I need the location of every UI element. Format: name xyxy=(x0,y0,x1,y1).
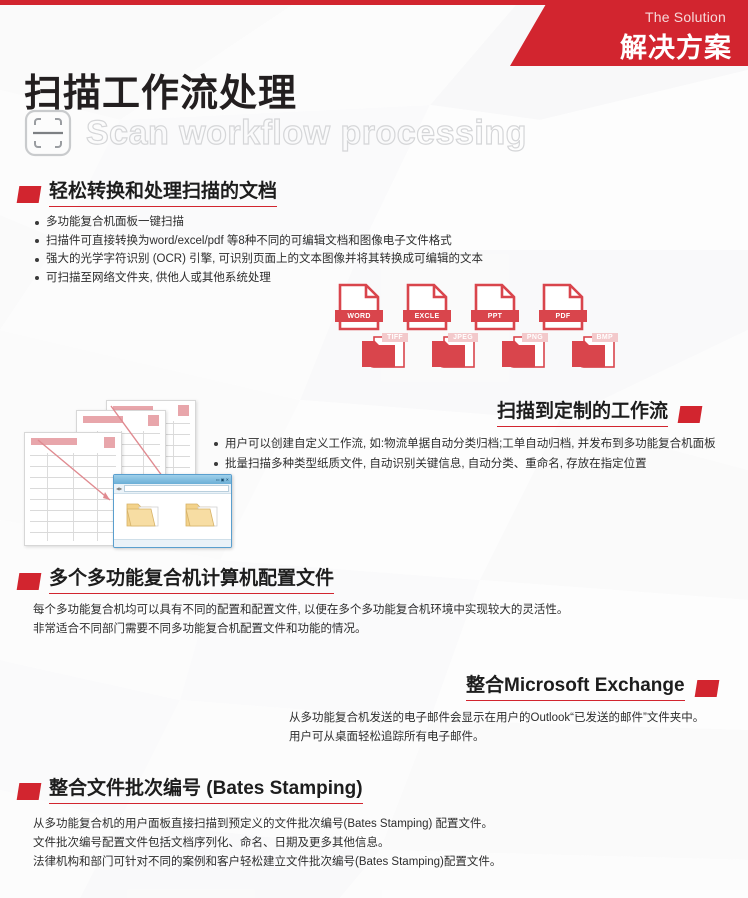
document-format-icons: WORD EXCLE PPT PDF xyxy=(338,283,584,331)
folder-icon-tiff: TIFF xyxy=(360,333,406,373)
section-heading-custom-workflow: 扫描到定制的工作流 xyxy=(497,401,701,427)
file-explorer-window[interactable]: ▭ ▣ ✕ ◀▶ xyxy=(113,474,232,548)
solution-banner-chinese: 解决方案 xyxy=(620,26,732,65)
folder-label: PNG xyxy=(522,333,548,342)
list-item: 扫描件可直接转换为word/excel/pdf 等8种不同的可编辑文档和图像电子… xyxy=(34,232,483,251)
section-heading-exchange: 整合Microsoft Exchange xyxy=(466,675,718,701)
solution-banner-english: The Solution xyxy=(645,9,726,25)
document-file-icon-word: WORD xyxy=(338,283,380,331)
back-arrow-icon[interactable]: ◀▶ xyxy=(116,486,122,491)
paragraph-line: 非常适合不同部门需要不同多功能复合机配置文件和功能的情况。 xyxy=(33,620,568,639)
solution-banner: The Solution 解决方案 xyxy=(510,4,748,66)
address-input[interactable] xyxy=(124,485,229,492)
heading-marker-icon xyxy=(694,680,719,697)
paragraph-bates-stamping: 从多功能复合机的用户面板直接扫描到预定义的文件批次编号(Bates Stampi… xyxy=(33,815,501,872)
explorer-status-bar xyxy=(114,539,231,548)
heading-marker-icon xyxy=(17,783,42,800)
folder-label: BMP xyxy=(592,333,618,342)
folder-label: JPEG xyxy=(448,333,478,342)
paragraph-mfp-profiles: 每个多功能复合机均可以具有不同的配置和配置文件, 以便在多个多功能复合机环境中实… xyxy=(33,601,568,639)
section-heading-text: 整合Microsoft Exchange xyxy=(466,675,685,701)
heading-marker-icon xyxy=(17,573,42,590)
explorer-address-bar[interactable]: ◀▶ xyxy=(114,484,231,494)
folder-label: TIFF xyxy=(382,333,408,342)
scanned-documents-to-folders-illustration: ▭ ▣ ✕ ◀▶ xyxy=(18,396,230,546)
document-file-label: WORD xyxy=(335,310,383,322)
paragraph-line: 从多功能复合机的用户面板直接扫描到预定义的文件批次编号(Bates Stampi… xyxy=(33,815,501,834)
explorer-file-area[interactable] xyxy=(114,494,231,539)
document-file-label: PPT xyxy=(471,310,519,322)
folder-icon xyxy=(126,499,160,529)
paragraph-line: 从多功能复合机发送的电子邮件会显示在用户的Outlook“已发送的邮件”文件夹中… xyxy=(289,709,704,728)
document-file-icon-ppt: PPT xyxy=(474,283,516,331)
paragraph-line: 法律机构和部门可针对不同的案例和客户轻松建立文件批次编号(Bates Stamp… xyxy=(33,853,501,872)
bullet-list-custom-workflow: 用户可以创建自定义工作流, 如:物流单据自动分类归档;工单自动归档, 并发布到多… xyxy=(213,434,716,474)
heading-marker-icon xyxy=(678,406,703,423)
section-heading-text: 多个多功能复合机计算机配置文件 xyxy=(49,568,334,594)
section-heading-bates-stamping: 整合文件批次编号 (Bates Stamping) xyxy=(18,778,363,804)
scan-frame-icon xyxy=(22,108,74,158)
list-item: 多功能复合机面板一键扫描 xyxy=(34,213,483,232)
list-item: 用户可以创建自定义工作流, 如:物流单据自动分类归档;工单自动归档, 并发布到多… xyxy=(213,434,716,454)
window-controls-icon[interactable]: ▭ ▣ ✕ xyxy=(216,477,229,482)
section-heading-text: 扫描到定制的工作流 xyxy=(497,401,668,427)
section-heading-text: 轻松转换和处理扫描的文档 xyxy=(49,181,277,207)
list-item: 强大的光学字符识别 (OCR) 引擎, 可识别页面上的文本图像并将其转换成可编辑… xyxy=(34,250,483,269)
section-heading-easy-convert: 轻松转换和处理扫描的文档 xyxy=(18,181,277,207)
subtitle-row: Scan workflow processing xyxy=(22,108,527,158)
list-item[interactable] xyxy=(185,499,219,535)
folder-icon-png: PNG xyxy=(500,333,546,373)
document-file-icon-excle: EXCLE xyxy=(406,283,448,331)
subtitle-english: Scan workflow processing xyxy=(86,114,527,153)
list-item[interactable] xyxy=(126,499,160,535)
paragraph-line: 每个多功能复合机均可以具有不同的配置和配置文件, 以便在多个多功能复合机环境中实… xyxy=(33,601,568,620)
folder-icon xyxy=(185,499,219,529)
section-heading-mfp-profiles: 多个多功能复合机计算机配置文件 xyxy=(18,568,334,594)
section-heading-text: 整合文件批次编号 (Bates Stamping) xyxy=(49,778,363,804)
paragraph-exchange: 从多功能复合机发送的电子邮件会显示在用户的Outlook“已发送的邮件”文件夹中… xyxy=(289,709,704,747)
folder-icon-bmp: BMP xyxy=(570,333,616,373)
document-file-label: EXCLE xyxy=(403,310,451,322)
bullet-list-easy-convert: 多功能复合机面板一键扫描 扫描件可直接转换为word/excel/pdf 等8种… xyxy=(34,213,483,287)
document-file-icon-pdf: PDF xyxy=(542,283,584,331)
image-format-icons: TIFF JPEG PNG xyxy=(360,333,616,373)
document-file-label: PDF xyxy=(539,310,587,322)
folder-icon-jpeg: JPEG xyxy=(430,333,476,373)
explorer-titlebar: ▭ ▣ ✕ xyxy=(114,475,231,484)
list-item: 批量扫描多种类型纸质文件, 自动识别关键信息, 自动分类、重命名, 存放在指定位… xyxy=(213,454,716,474)
heading-marker-icon xyxy=(17,186,42,203)
paragraph-line: 文件批次编号配置文件包括文档序列化、命名、日期及更多其他信息。 xyxy=(33,834,501,853)
paragraph-line: 用户可从桌面轻松追踪所有电子邮件。 xyxy=(289,728,704,747)
